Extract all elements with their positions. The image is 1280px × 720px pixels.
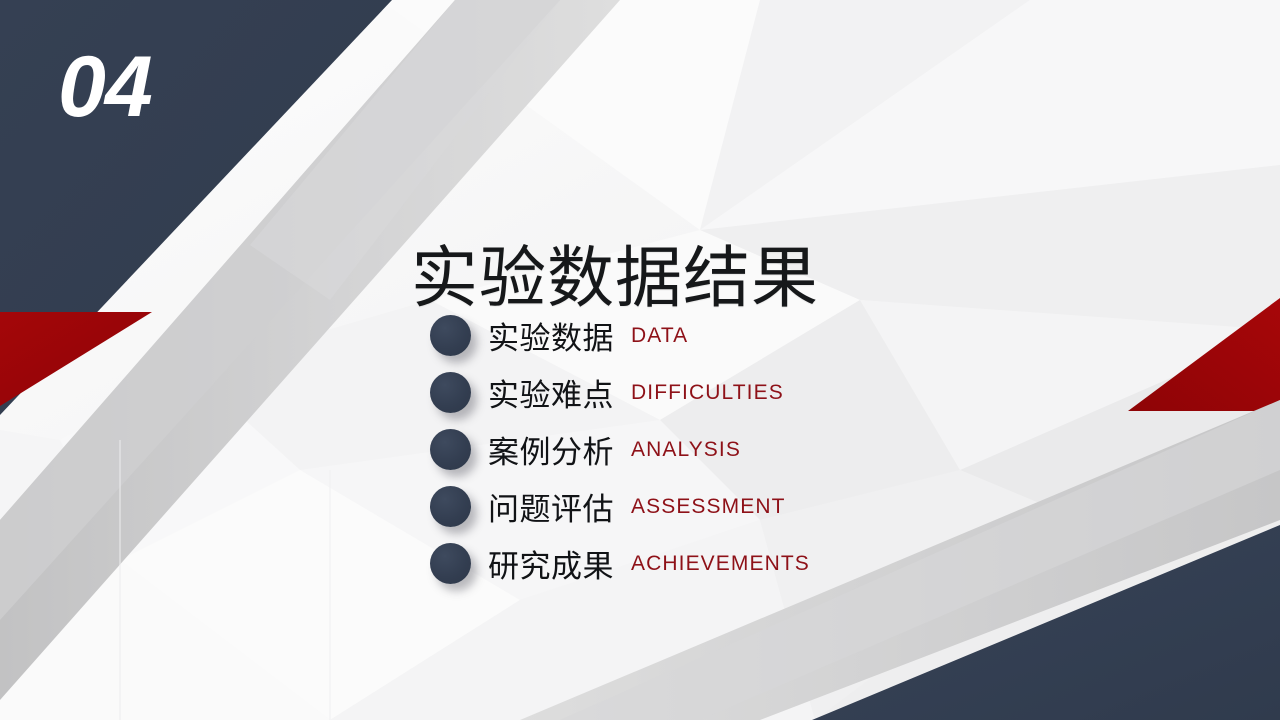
list-item-label-en: ACHIEVEMENTS (631, 552, 810, 576)
list-item-label-en: DATA (631, 324, 688, 348)
list-item-label-cn: 案例分析 (488, 427, 614, 472)
list-item-label-en: ANALYSIS (631, 438, 741, 462)
list-item-label-en: ASSESSMENT (631, 495, 786, 519)
list-item[interactable]: 问题评估 ASSESSMENT (430, 478, 990, 535)
slide-title: 实验数据结果 (411, 244, 819, 314)
list-item-label-en: DIFFICULTIES (631, 381, 784, 405)
bullet-dot-icon (430, 429, 471, 470)
agenda-list: 实验数据 DATA 实验难点 DIFFICULTIES 案例分析 ANALYSI… (430, 307, 990, 592)
list-item[interactable]: 研究成果 ACHIEVEMENTS (430, 535, 990, 592)
bullet-dot-icon (430, 315, 471, 356)
presentation-slide: 04 实验数据结果 实验数据 DATA 实验难点 DIFFICULTIES 案例… (0, 0, 1280, 720)
section-number: 04 (58, 44, 152, 130)
list-item[interactable]: 实验数据 DATA (430, 307, 990, 364)
list-item-label-cn: 实验数据 (488, 313, 614, 358)
bullet-dot-icon (430, 372, 471, 413)
bullet-dot-icon (430, 486, 471, 527)
list-item-label-cn: 问题评估 (488, 484, 614, 529)
list-item[interactable]: 实验难点 DIFFICULTIES (430, 364, 990, 421)
list-item-label-cn: 实验难点 (488, 370, 614, 415)
list-item-label-cn: 研究成果 (488, 541, 614, 586)
bullet-dot-icon (430, 543, 471, 584)
list-item[interactable]: 案例分析 ANALYSIS (430, 421, 990, 478)
